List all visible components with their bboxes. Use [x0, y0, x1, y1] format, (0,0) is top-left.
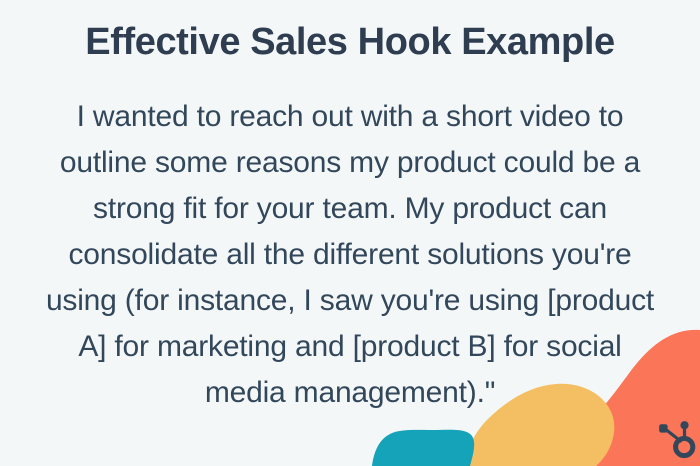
body-line: using (for instance, I saw you're using …	[28, 278, 672, 324]
body-line: A] for marketing and [product B] for soc…	[28, 324, 672, 370]
body-line: outline some reasons my product could be…	[28, 140, 672, 186]
body-line: strong fit for your team. My product can	[28, 186, 672, 232]
sales-hook-body: I wanted to reach out with a short video…	[28, 94, 672, 416]
page-title: Effective Sales Hook Example	[0, 22, 700, 64]
hubspot-ring	[676, 438, 693, 455]
hubspot-logo-icon	[656, 420, 696, 460]
sales-hook-example-card: Effective Sales Hook Example I wanted to…	[0, 0, 700, 466]
teal-blob-shape	[372, 430, 474, 466]
body-line: I wanted to reach out with a short video…	[28, 94, 672, 140]
body-line: media management)."	[28, 370, 672, 416]
hubspot-node-square	[659, 424, 667, 432]
hubspot-node-dot	[680, 421, 688, 429]
body-line: consolidate all the different solutions …	[28, 232, 672, 278]
